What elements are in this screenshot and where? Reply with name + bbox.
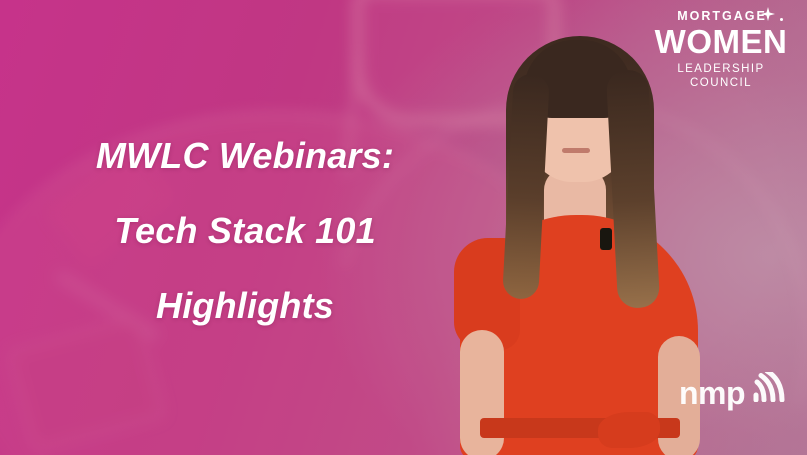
mwlc-logo-line-mortgage: MORTGAGE xyxy=(651,9,791,23)
video-thumbnail-frame: MORTGAGE WOMEN LEADERSHIP COUNCIL MWLC W… xyxy=(0,0,807,455)
mwlc-logo-line-women: WOMEN xyxy=(651,25,791,58)
presenter-belt-bow xyxy=(598,412,660,448)
mwlc-brand-logo: MORTGAGE WOMEN LEADERSHIP COUNCIL xyxy=(651,9,791,90)
sparkle-dot-icon xyxy=(780,18,784,22)
presenter-mouth xyxy=(562,148,590,153)
sparkle-icon xyxy=(761,7,775,21)
title-line-2: Tech Stack 101 xyxy=(60,193,430,268)
mwlc-logo-line-council: LEADERSHIP COUNCIL xyxy=(651,62,791,90)
nmp-watermark-logo: nmp xyxy=(679,372,787,407)
nmp-wordmark: nmp xyxy=(679,379,745,407)
signal-arcs-icon xyxy=(753,372,787,407)
title-line-1: MWLC Webinars: xyxy=(60,118,430,193)
lavalier-microphone-icon xyxy=(600,228,612,250)
mwlc-logo-mortgage-text: MORTGAGE xyxy=(677,9,767,23)
title-line-3: Highlights xyxy=(60,268,430,343)
title-block: MWLC Webinars: Tech Stack 101 Highlights xyxy=(60,118,430,343)
